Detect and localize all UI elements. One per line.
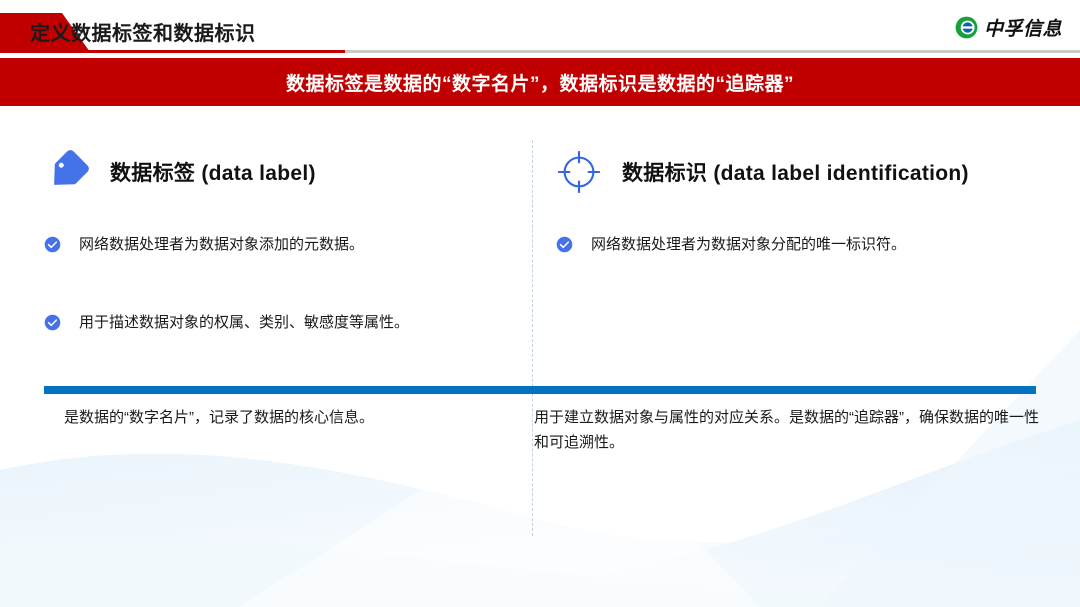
- check-circle-icon: [44, 236, 61, 253]
- company-logo: 中孚信息: [955, 14, 1062, 41]
- slide-body: 数据标签 (data label) 网络数据处理者为数据对象添加的元数据。 用于…: [0, 106, 1080, 607]
- summary-left: 是数据的“数字名片”，记录了数据的核心信息。: [64, 406, 504, 431]
- summary-right: 用于建立数据对象与属性的对应关系。是数据的“追踪器”，确保数据的唯一性和可追溯性…: [534, 406, 1044, 456]
- banner-bar: 数据标签是数据的“数字名片”，数据标识是数据的“追踪器”: [0, 58, 1080, 106]
- list-item: 网络数据处理者为数据对象添加的元数据。: [44, 234, 514, 257]
- page-title: 定义数据标签和数据标识: [30, 17, 256, 46]
- list-item: 网络数据处理者为数据对象分配的唯一标识符。: [556, 234, 1036, 257]
- column-divider: [532, 140, 533, 536]
- check-circle-icon: [44, 314, 61, 331]
- banner-text: 数据标签是数据的“数字名片”，数据标识是数据的“追踪器”: [286, 69, 794, 96]
- bullet-list-left: 网络数据处理者为数据对象添加的元数据。 用于描述数据对象的权属、类别、敏感度等属…: [44, 234, 514, 389]
- blue-separator-bar: [44, 386, 1036, 394]
- tag-icon: [44, 149, 90, 195]
- list-item: 用于描述数据对象的权属、类别、敏感度等属性。: [44, 312, 514, 335]
- company-circle-e-logo-icon: [955, 16, 978, 39]
- slide-header: 定义数据标签和数据标识: [0, 0, 1080, 58]
- column-title-right: 数据标识 (data label identification): [622, 157, 969, 187]
- header-rule-red: [0, 50, 345, 53]
- list-item-text: 网络数据处理者为数据对象添加的元数据。: [79, 234, 364, 257]
- crosshair-target-icon: [556, 149, 602, 195]
- bullet-list-right: 网络数据处理者为数据对象分配的唯一标识符。: [556, 234, 1036, 312]
- company-logo-text: 中孚信息: [984, 14, 1062, 41]
- check-circle-icon: [556, 236, 573, 253]
- slide-root: 定义数据标签和数据标识 中孚信息 数据标签是数据的“数字名片”，数据标识是数据的…: [0, 0, 1080, 607]
- column-header-left: 数据标签 (data label): [44, 146, 316, 198]
- list-item-text: 用于描述数据对象的权属、类别、敏感度等属性。: [79, 312, 409, 335]
- column-header-right: 数据标识 (data label identification): [556, 146, 969, 198]
- list-item-text: 网络数据处理者为数据对象分配的唯一标识符。: [591, 234, 906, 257]
- column-title-left: 数据标签 (data label): [110, 157, 316, 187]
